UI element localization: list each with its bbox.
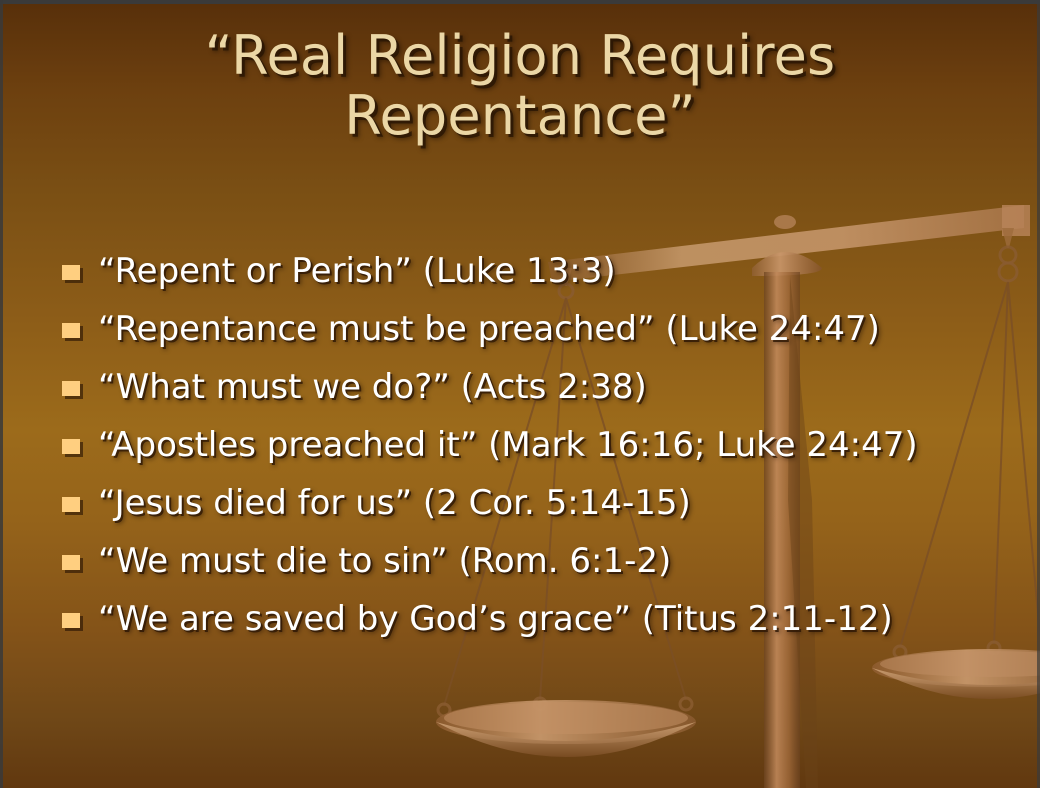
slide-title: “Real Religion Requires Repentance”	[70, 26, 970, 147]
bullet-square-icon	[62, 323, 80, 338]
bullet-text: “What must we do?” (Acts 2:38)	[98, 370, 647, 406]
bullet-square-icon	[62, 555, 80, 570]
bullet-list: “Repent or Perish” (Luke 13:3) “Repentan…	[62, 243, 1022, 649]
list-item: “Apostles preached it” (Mark 16:16; Luke…	[62, 417, 1022, 475]
bullet-square-icon	[62, 381, 80, 396]
presentation-slide: “Real Religion Requires Repentance” “Rep…	[0, 0, 1040, 788]
bullet-square-icon	[62, 265, 80, 280]
bullet-text: “We are saved by God’s grace” (Titus 2:1…	[98, 602, 893, 638]
frame-edge-top	[0, 0, 1040, 4]
bullet-text: “Apostles preached it” (Mark 16:16; Luke…	[98, 428, 918, 464]
bullet-text: “We must die to sin” (Rom. 6:1-2)	[98, 544, 671, 580]
frame-edge-left	[0, 0, 3, 788]
bullet-square-icon	[62, 613, 80, 628]
list-item: “We are saved by God’s grace” (Titus 2:1…	[62, 591, 1022, 649]
slide-title-block: “Real Religion Requires Repentance”	[70, 26, 970, 147]
bullet-square-icon	[62, 497, 80, 512]
bullet-square-icon	[62, 439, 80, 454]
list-item: “Repentance must be preached” (Luke 24:4…	[62, 301, 1022, 359]
list-item: “What must we do?” (Acts 2:38)	[62, 359, 1022, 417]
list-item: “Jesus died for us” (2 Cor. 5:14-15)	[62, 475, 1022, 533]
bullet-text: “Jesus died for us” (2 Cor. 5:14-15)	[98, 486, 691, 522]
bullet-text: “Repent or Perish” (Luke 13:3)	[98, 254, 616, 290]
list-item: “We must die to sin” (Rom. 6:1-2)	[62, 533, 1022, 591]
list-item: “Repent or Perish” (Luke 13:3)	[62, 243, 1022, 301]
bullet-text: “Repentance must be preached” (Luke 24:4…	[98, 312, 880, 348]
